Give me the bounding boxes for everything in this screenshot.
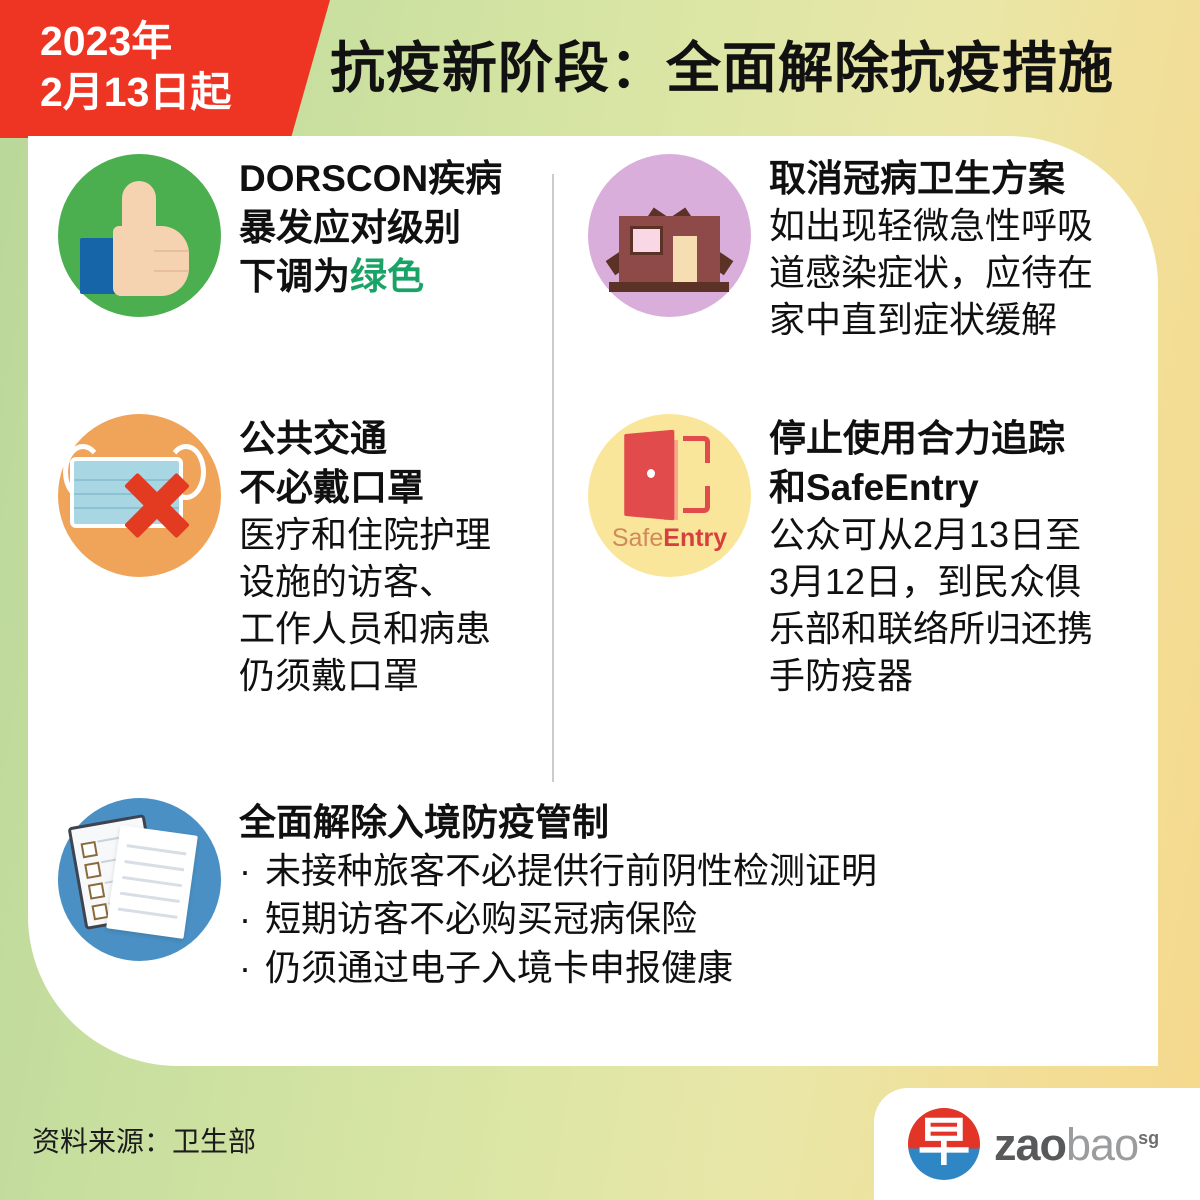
bullet-item: ·仍须通过电子入境卡申报健康 bbox=[239, 944, 877, 992]
zaobao-glyph: 早 bbox=[908, 1117, 980, 1169]
document-line bbox=[120, 892, 180, 903]
heading-highlight: 绿色 bbox=[350, 256, 424, 297]
measure-item-health-protocol: 取消冠病卫生方案 如出现轻微急性呼吸 道感染症状，应待在 家中直到症状缓解 bbox=[588, 154, 1093, 344]
body-line: 医疗和住院护理 bbox=[239, 512, 491, 559]
bullet-text: 未接种旅客不必提供行前阴性检测证明 bbox=[265, 850, 877, 891]
heading-line: 全面解除入境防疫管制 bbox=[239, 798, 877, 847]
house-door bbox=[671, 234, 699, 286]
safeentry-icon: SafeEntry bbox=[588, 414, 751, 577]
body-line: 道感染症状，应待在 bbox=[769, 250, 1093, 297]
thumb-fold bbox=[154, 250, 188, 252]
icon-wrapper: SafeEntry bbox=[588, 414, 751, 577]
safeentry-door-knob bbox=[647, 469, 655, 478]
body-line: 如出现轻微急性呼吸 bbox=[769, 203, 1093, 250]
heading-line: DORSCON疾病 bbox=[239, 154, 502, 203]
column-divider bbox=[552, 174, 554, 782]
bullet-marker-icon: · bbox=[239, 895, 265, 943]
document-line bbox=[124, 860, 184, 871]
thumb-finger bbox=[122, 181, 156, 239]
body-line: 家中直到症状缓解 bbox=[769, 297, 1093, 344]
bullet-item: ·未接种旅客不必提供行前阴性检测证明 bbox=[239, 847, 877, 895]
thumb-fold bbox=[154, 270, 188, 272]
heading-line: 和SafeEntry bbox=[769, 463, 1093, 512]
document-sheet bbox=[106, 825, 198, 939]
item-text-block: 取消冠病卫生方案 如出现轻微急性呼吸 道感染症状，应待在 家中直到症状缓解 bbox=[769, 154, 1093, 344]
checkbox bbox=[81, 841, 98, 858]
heading-line: 不必戴口罩 bbox=[239, 463, 491, 512]
wordmark-sg: sg bbox=[1138, 1128, 1159, 1148]
thumbs-up-icon bbox=[58, 154, 221, 317]
item-text-block: 停止使用合力追踪 和SafeEntry 公众可从2月13日至 3月12日，到民众… bbox=[769, 414, 1093, 700]
bullet-text: 短期访客不必购买冠病保险 bbox=[265, 898, 697, 939]
checkbox bbox=[84, 862, 101, 879]
body-line: 公众可从2月13日至 bbox=[769, 512, 1093, 559]
wordmark-bao: bao bbox=[1066, 1119, 1138, 1170]
scan-bracket-top-right bbox=[683, 436, 710, 463]
page-title: 抗疫新阶段：全面解除抗疫措施 bbox=[330, 41, 1114, 96]
body-line: 仍须戴口罩 bbox=[239, 653, 491, 700]
mask-pleat bbox=[74, 479, 179, 481]
heading-line: 公共交通 bbox=[239, 414, 491, 463]
date-line-1: 2023年 bbox=[40, 16, 231, 67]
bullet-text: 仍须通过电子入境卡申报健康 bbox=[265, 947, 733, 988]
wordmark-zao: zao bbox=[994, 1119, 1066, 1170]
document-line bbox=[122, 876, 182, 887]
house-icon bbox=[588, 154, 751, 317]
document-line bbox=[118, 908, 178, 919]
date-line-2: 2月13日起 bbox=[40, 67, 231, 118]
icon-wrapper bbox=[58, 154, 221, 317]
infographic-poster: 抗疫新阶段：全面解除抗疫措施 2023年 2月13日起 DORSCON疾病 bbox=[0, 0, 1200, 1200]
publisher-logo: 早 zaobaosg bbox=[874, 1088, 1200, 1200]
scan-bracket-bottom-right bbox=[683, 486, 710, 513]
item-text-block: 公共交通 不必戴口罩 医疗和住院护理 设施的访客、 工作人员和病患 仍须戴口罩 bbox=[239, 414, 491, 700]
checklist-icon bbox=[58, 798, 221, 961]
checkbox bbox=[88, 882, 105, 899]
body-line: 手防疫器 bbox=[769, 653, 1093, 700]
date-flag: 2023年 2月13日起 bbox=[0, 0, 330, 138]
item-text-block: 全面解除入境防疫管制 ·未接种旅客不必提供行前阴性检测证明 ·短期访客不必购买冠… bbox=[239, 798, 877, 992]
icon-wrapper bbox=[58, 798, 221, 961]
heading-line: 取消冠病卫生方案 bbox=[769, 154, 1093, 203]
checkbox bbox=[91, 903, 108, 920]
bullet-marker-icon: · bbox=[239, 847, 265, 895]
item-text-block: DORSCON疾病 暴发应对级别 下调为绿色 bbox=[239, 154, 502, 302]
measure-item-mask: 公共交通 不必戴口罩 医疗和住院护理 设施的访客、 工作人员和病患 仍须戴口罩 bbox=[58, 414, 491, 700]
measure-item-safeentry: SafeEntry 停止使用合力追踪 和SafeEntry 公众可从2月13日至… bbox=[588, 414, 1093, 700]
bullet-marker-icon: · bbox=[239, 944, 265, 992]
house-base bbox=[609, 282, 729, 292]
heading-line-with-highlight: 下调为绿色 bbox=[239, 252, 502, 301]
heading-line: 暴发应对级别 bbox=[239, 203, 502, 252]
source-credit: 资料来源：卫生部 bbox=[32, 1120, 256, 1160]
zaobao-mark-icon: 早 bbox=[908, 1108, 980, 1180]
icon-wrapper bbox=[58, 414, 221, 577]
document-line bbox=[127, 844, 187, 855]
bullet-item: ·短期访客不必购买冠病保险 bbox=[239, 895, 877, 943]
icon-wrapper bbox=[588, 154, 751, 317]
house-window bbox=[630, 226, 663, 255]
safeentry-text-entry: Entry bbox=[663, 524, 727, 552]
body-line: 工作人员和病患 bbox=[239, 606, 491, 653]
no-mask-icon bbox=[58, 414, 221, 577]
zaobao-wordmark: zaobaosg bbox=[994, 1122, 1159, 1167]
body-line: 3月12日，到民众俱 bbox=[769, 559, 1093, 606]
safeentry-logo-text: SafeEntry bbox=[588, 524, 751, 553]
measure-item-dorscon: DORSCON疾病 暴发应对级别 下调为绿色 bbox=[58, 154, 502, 317]
body-line: 设施的访客、 bbox=[239, 559, 491, 606]
measure-item-border: 全面解除入境防疫管制 ·未接种旅客不必提供行前阴性检测证明 ·短期访客不必购买冠… bbox=[58, 798, 877, 992]
heading-line: 停止使用合力追踪 bbox=[769, 414, 1093, 463]
heading-prefix: 下调为 bbox=[239, 256, 350, 297]
date-flag-text: 2023年 2月13日起 bbox=[40, 16, 231, 118]
safeentry-text-safe: Safe bbox=[612, 524, 663, 552]
content-card: DORSCON疾病 暴发应对级别 下调为绿色 取消冠病卫生方案 如出现轻微急性呼 bbox=[28, 136, 1158, 1066]
body-line: 乐部和联络所归还携 bbox=[769, 606, 1093, 653]
